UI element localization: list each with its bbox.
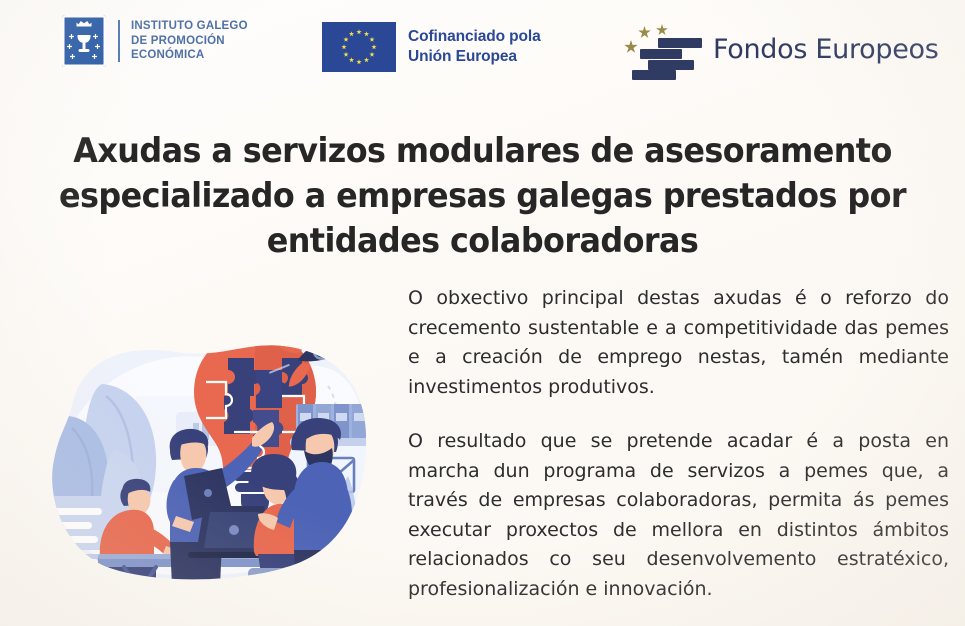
eu-star-icon [364, 31, 370, 37]
page-title: Axudas a servizos modulares de asesorame… [55, 128, 911, 263]
igape-logo-text: INSTITUTO GALEGO DE PROMOCIÓN ECONÓMICA [131, 19, 248, 63]
body-text-column: O obxectivo principal destas axudas é o … [408, 284, 949, 604]
chair-right [248, 568, 304, 615]
igape-line-1: INSTITUTO GALEGO [131, 19, 248, 34]
eu-star-icon [341, 44, 347, 50]
igape-line-2: DE PROMOCIÓN [131, 34, 248, 49]
eu-star-icon [349, 31, 355, 37]
eu-logo-text: Cofinanciado pola Unión Europea [408, 27, 541, 67]
eu-star-icon [369, 52, 375, 58]
paragraph-2: O resultado que se pretende acadar é a p… [408, 427, 949, 604]
stepped-bars-icon [618, 18, 704, 80]
igape-logo: INSTITUTO GALEGO DE PROMOCIÓN ECONÓMICA [62, 15, 248, 67]
eu-star-icon [356, 59, 362, 65]
fondos-europeos-label: Fondos Europeos [713, 34, 939, 65]
logo-bar: INSTITUTO GALEGO DE PROMOCIÓN ECONÓMICA … [0, 10, 965, 88]
eu-star-icon [356, 29, 362, 35]
eu-flag-icon [322, 22, 396, 72]
eu-star-icon [343, 52, 349, 58]
eu-star-icon [349, 57, 355, 63]
logo-divider [118, 20, 120, 62]
eu-star-icon [364, 57, 370, 63]
eu-star-icon [371, 44, 377, 50]
eu-star-icon [369, 37, 375, 43]
desk [98, 554, 352, 616]
poster-page: INSTITUTO GALEGO DE PROMOCIÓN ECONÓMICA … [0, 0, 965, 626]
eu-line-2: Unión Europea [408, 47, 541, 67]
galicia-coat-of-arms-icon [62, 15, 106, 67]
paragraph-1: O obxectivo principal destas axudas é o … [408, 284, 949, 402]
eu-line-1: Cofinanciado pola [408, 27, 541, 47]
eu-star-icon [343, 37, 349, 43]
fondos-europeos-logo: Fondos Europeos [618, 18, 939, 80]
team-collaboration-illustration [6, 300, 398, 626]
igape-line-3: ECONÓMICA [131, 48, 248, 63]
eu-cofinancing-logo: Cofinanciado pola Unión Europea [322, 22, 541, 72]
